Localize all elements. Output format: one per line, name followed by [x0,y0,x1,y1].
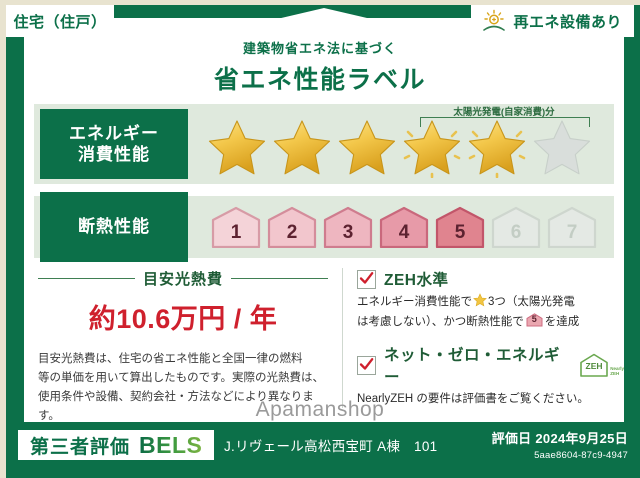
energy-row-label: エネルギー 消費性能 [40,109,188,179]
insulation-level-value: 6 [511,222,522,244]
insulation-level-value: 4 [399,222,410,244]
energy-performance-label: 住宅（住戸） 再エネ設備あり 建築物省エネ法に基づく 省エネ性能ラベル [0,0,640,478]
star-filled-icon [336,118,398,178]
sun-icon [481,9,507,33]
category-tab-label: 住宅（住戸） [13,11,106,32]
utility-cost-heading-text: 目安光熱費 [143,268,223,289]
insulation-level-badge-inactive: 7 [546,206,598,248]
insulation-level-value: 3 [343,222,354,244]
zeh-body-part1: エネルギー消費性能で [357,296,472,308]
insulation-row-label-text: 断熱性能 [78,216,150,237]
header: 建築物省エネ法に基づく 省エネ性能ラベル [0,38,640,96]
checkbox-checked-icon [357,270,376,289]
heading-rule-left [38,278,135,280]
zeh-body-part3: を達成 [545,316,580,328]
energy-performance-row: エネルギー 消費性能 太陽光発電(自家消費)分 [34,104,614,184]
evaluation-date: 評価日 2024年9月25日 [492,428,628,447]
zeh-logo-sub2: ZEH [610,371,619,376]
zeh-standard-body: エネルギー消費性能で3つ（太陽光発電 は考慮しない）、かつ断熱性能で5を達成 [357,293,624,332]
insulation-level-badge-inactive: 6 [490,206,542,248]
insulation-level-value: 7 [567,222,578,244]
category-tab: 住宅（住戸） [6,5,114,37]
page-title: 省エネ性能ラベル [0,60,640,96]
insulation-row-label: 断熱性能 [40,192,188,262]
footer-bar: 第三者評価 BELS J.リヴェール高松西宝町 A棟 101 評価日 2024年… [6,422,640,478]
insulation-level-badge-active: 3 [322,206,374,248]
inline-level-badge-icon: 5 [526,313,543,327]
renewable-badge-label: 再エネ設備あり [513,11,622,32]
energy-row-label-line2: 消費性能 [78,144,150,165]
evaluation-info: 評価日 2024年9月25日 5aae8604-87c9-4947 [492,428,628,461]
energy-stars-area: 太陽光発電(自家消費)分 [188,104,614,184]
energy-row-label-line1: エネルギー [69,123,159,144]
insulation-level-value: 1 [231,222,242,244]
insulation-level-badge-active: 1 [210,206,262,248]
utility-cost-amount: 約10.6万円 / 年 [24,297,342,336]
zeh-house-logo-icon: ZEH NearlyZEH [579,353,624,377]
star-filled-icon [466,118,528,178]
insulation-level-value: 2 [287,222,298,244]
insulation-level-scale: 1234567 [210,206,598,248]
utility-cost-note-line2: 等の単価を用いて算出したものです。実際の光熱費は、 [38,369,332,388]
insulation-level-value: 5 [455,222,466,244]
net-zero-header: ネット・ゼロ・エネルギー ZEH NearlyZEH [357,343,624,387]
insulation-level-badge-active: 4 [378,206,430,248]
heading-rule-right [231,278,328,280]
renewable-equipment-badge: 再エネ設備あり [471,5,634,37]
zeh-body-star-count: 3つ（太陽光発電 [488,296,575,308]
star-empty-icon [531,118,593,178]
inline-star-icon [473,293,487,307]
insulation-level-badge-active: 2 [266,206,318,248]
solar-annotation-label: 太陽光発電(自家消費)分 [416,104,592,118]
svg-text:ZEH: ZEH [586,361,603,371]
star-filled-icon [271,118,333,178]
net-zero-title: ネット・ゼロ・エネルギー [384,343,565,387]
checkbox-checked-icon-2 [357,356,376,375]
insulation-performance-row: 断熱性能 1234567 [34,196,614,258]
building-name: J.リヴェール高松西宝町 A棟 101 [224,435,437,455]
zeh-standard-title: ZEH水準 [384,268,449,290]
star-rating [206,118,593,178]
evaluation-id: 5aae8604-87c9-4947 [492,450,628,461]
solar-annotation: 太陽光発電(自家消費)分 [416,104,592,118]
inline-level-badge-value: 5 [526,313,543,327]
watermark: Apamanshop [0,398,640,422]
utility-cost-heading: 目安光熱費 [38,268,328,289]
zeh-standard-header: ZEH水準 [357,268,624,290]
star-filled-icon [206,118,268,178]
bels-en-label: BELS [139,432,202,459]
bels-chip: 第三者評価 BELS [18,430,214,460]
star-filled-icon [401,118,463,178]
insulation-level-badge-active: 5 [434,206,486,248]
header-subtitle: 建築物省エネ法に基づく [0,38,640,57]
bels-jp-label: 第三者評価 [30,432,130,459]
utility-cost-note-line1: 目安光熱費は、住宅の省エネ性能と全国一律の燃料 [38,350,332,369]
zeh-body-part2: は考慮しない）、かつ断熱性能で [357,316,524,328]
